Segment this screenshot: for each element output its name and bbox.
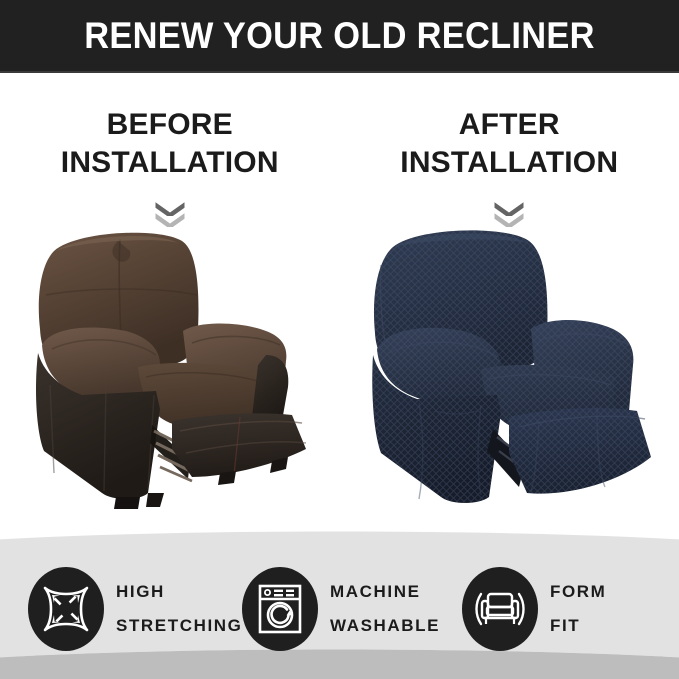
product-marketing-image: RENEW YOUR OLD RECLINER BEFORE INSTALLAT… xyxy=(0,0,679,679)
feature-label-high-stretching: HIGH STRETCHING xyxy=(116,575,243,641)
feature-label-line2: FIT xyxy=(550,609,606,642)
before-heading-line1: BEFORE xyxy=(107,108,233,141)
after-heading-line2: INSTALLATION xyxy=(340,144,679,182)
feature-list: HIGH STRETCHING xyxy=(0,526,679,679)
washing-machine-icon xyxy=(242,567,318,651)
feature-label-line1: HIGH xyxy=(116,582,165,601)
before-after-comparison: BEFORE INSTALLATION xyxy=(0,73,679,533)
after-image xyxy=(340,225,679,525)
after-heading: AFTER INSTALLATION xyxy=(340,106,679,183)
before-column: BEFORE INSTALLATION xyxy=(0,73,340,533)
sofa-icon xyxy=(462,567,538,651)
feature-label-machine-washable: MACHINE WASHABLE xyxy=(330,575,440,641)
feature-label-line2: STRETCHING xyxy=(116,609,243,642)
feature-label-line1: FORM xyxy=(550,582,606,601)
feature-label-line2: WASHABLE xyxy=(330,609,440,642)
feature-item-form-fit: FORM FIT xyxy=(460,567,679,651)
feature-item-machine-washable: MACHINE WASHABLE xyxy=(238,567,460,651)
after-heading-line1: AFTER xyxy=(459,108,560,141)
feature-bar: HIGH STRETCHING xyxy=(0,526,679,679)
after-column: AFTER INSTALLATION xyxy=(340,73,679,533)
chevron-down-icon-bottom xyxy=(153,211,187,226)
feature-item-high-stretching: HIGH STRETCHING xyxy=(0,567,238,651)
header-banner: RENEW YOUR OLD RECLINER xyxy=(0,0,679,73)
stretch-arrows-icon xyxy=(28,567,104,651)
brown-recliner-illustration xyxy=(20,225,320,515)
chevron-down-icon-bottom xyxy=(492,211,526,226)
page-title: RENEW YOUR OLD RECLINER xyxy=(84,17,594,56)
before-heading-line2: INSTALLATION xyxy=(0,144,340,182)
before-image xyxy=(0,225,340,525)
feature-label-form-fit: FORM FIT xyxy=(550,575,606,641)
navy-slipcover-recliner-illustration xyxy=(359,225,659,515)
feature-label-line1: MACHINE xyxy=(330,582,421,601)
before-heading: BEFORE INSTALLATION xyxy=(0,106,340,183)
